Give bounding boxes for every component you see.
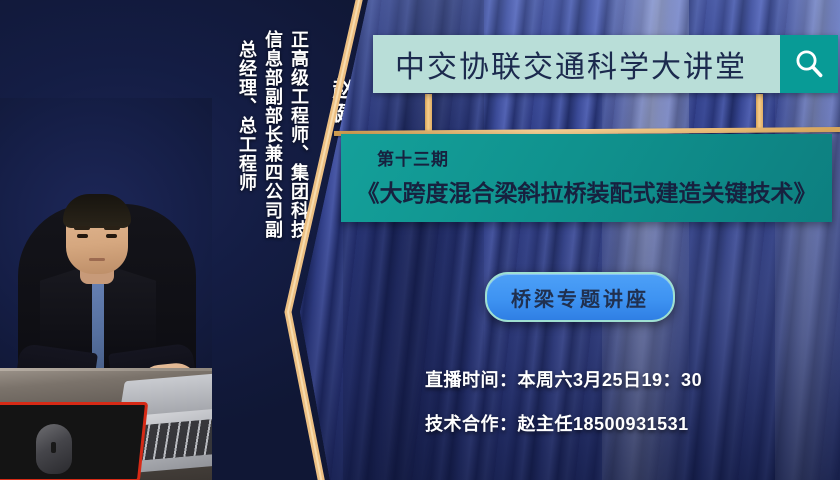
contact-text: 技术合作：赵主任18500931531	[425, 410, 689, 436]
topic-pill-button[interactable]: 桥梁专题讲座	[485, 272, 675, 322]
live-time-text: 直播时间：本周六3月25日19：30	[425, 366, 702, 392]
speaker-title-line-2: 信息部副部长兼四公司副	[264, 30, 282, 239]
issue-number: 第十三期	[377, 145, 449, 170]
title-banner: 中交协联交通科学大讲堂	[373, 35, 838, 93]
speaker-title-line-3: 总经理、总工程师	[238, 40, 256, 192]
portrait-brow-left	[74, 226, 90, 230]
portrait-hair	[63, 194, 131, 228]
speaker-title-line-1: 正高级工程师、集团科技	[290, 30, 308, 239]
search-icon	[792, 47, 826, 81]
portrait-eye-right	[106, 234, 117, 238]
mousepad	[0, 402, 148, 480]
subtitle-plaque: 第十三期 《大跨度混合梁斜拉桥装配式建造关键技术》	[341, 134, 832, 222]
portrait-brow-right	[104, 226, 120, 230]
poster-canvas: 赵健 正高级工程师、集团科技 信息部副部长兼四公司副 总经理、总工程师 中交协联…	[0, 0, 840, 480]
speaker-portrait	[0, 98, 212, 480]
banner-title-text: 中交协联交通科学大讲堂	[373, 42, 780, 86]
search-button[interactable]	[780, 35, 838, 93]
lecture-title: 《大跨度混合梁斜拉桥装配式建造关键技术》	[347, 174, 826, 208]
portrait-eye-left	[77, 234, 88, 238]
gold-post-right	[756, 94, 763, 132]
gold-post-left	[425, 94, 432, 132]
computer-mouse	[36, 424, 72, 474]
topic-pill-label: 桥梁专题讲座	[511, 283, 649, 312]
portrait-mouth	[89, 258, 105, 261]
